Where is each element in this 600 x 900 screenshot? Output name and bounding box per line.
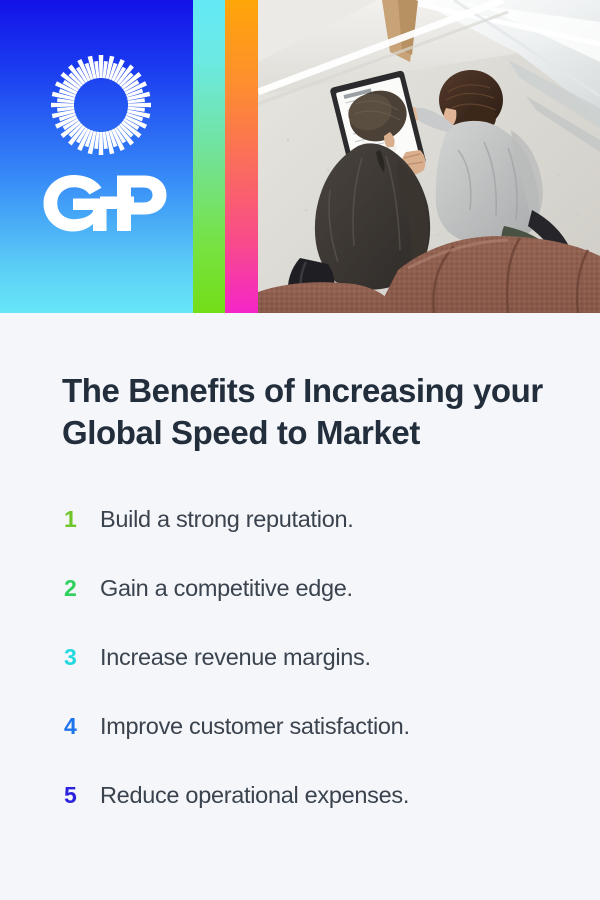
list-item-number: 1 [64, 508, 90, 531]
list-item-number: 2 [64, 577, 90, 600]
hero-banner [0, 0, 600, 313]
list-item-label: Improve customer satisfaction. [100, 715, 410, 739]
list-item: 3 Increase revenue margins. [0, 623, 600, 692]
list-item: 4 Improve customer satisfaction. [0, 692, 600, 761]
list-item-label: Increase revenue margins. [100, 646, 371, 670]
accent-stripe-orange-pink [225, 0, 258, 313]
list-item-number: 4 [64, 715, 90, 738]
accent-stripe-cyan-green [193, 0, 225, 313]
list-item-label: Reduce operational expenses. [100, 784, 409, 808]
list-item: 2 Gain a competitive edge. [0, 554, 600, 623]
page-title: The Benefits of Increasing your Global S… [62, 370, 567, 454]
benefits-list: 1 Build a strong reputation. 2 Gain a co… [0, 485, 600, 830]
list-item: 1 Build a strong reputation. [0, 485, 600, 554]
list-item-number: 3 [64, 646, 90, 669]
g-p-sunburst-logo-icon [46, 50, 156, 160]
poster-canvas: The Benefits of Increasing your Global S… [0, 0, 600, 900]
list-item-number: 5 [64, 784, 90, 807]
content-panel: The Benefits of Increasing your Global S… [0, 313, 600, 900]
list-item-label: Gain a competitive edge. [100, 577, 353, 601]
brand-panel [0, 0, 193, 313]
hero-photo-colleagues-with-tablet [258, 0, 600, 313]
list-item: 5 Reduce operational expenses. [0, 761, 600, 830]
g-p-wordmark [40, 172, 170, 234]
list-item-label: Build a strong reputation. [100, 508, 353, 532]
